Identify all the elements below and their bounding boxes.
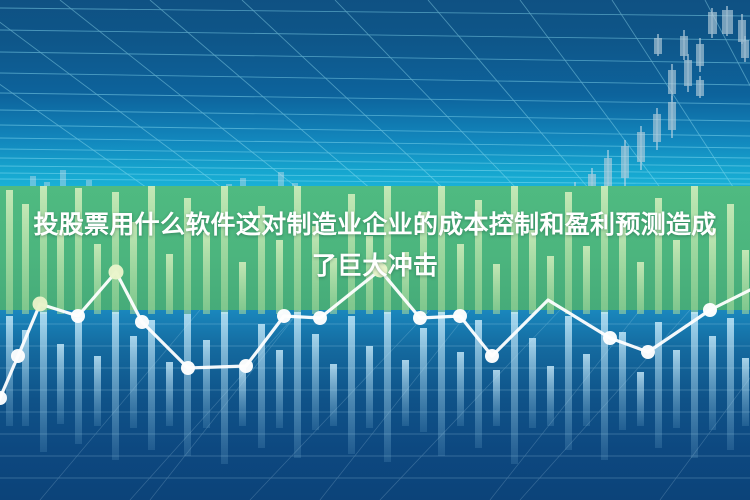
headline-text: 投股票用什么软件这对制造业企业的成本控制和盈利预测造成了巨大冲击: [0, 205, 750, 287]
stock-banner-image: 投股票用什么软件这对制造业企业的成本控制和盈利预测造成了巨大冲击: [0, 0, 750, 500]
headline-line-2: 了巨大冲击: [14, 246, 736, 287]
headline-line-1: 投股票用什么软件这对制造业企业的成本控制和盈利预测造成: [33, 211, 716, 239]
